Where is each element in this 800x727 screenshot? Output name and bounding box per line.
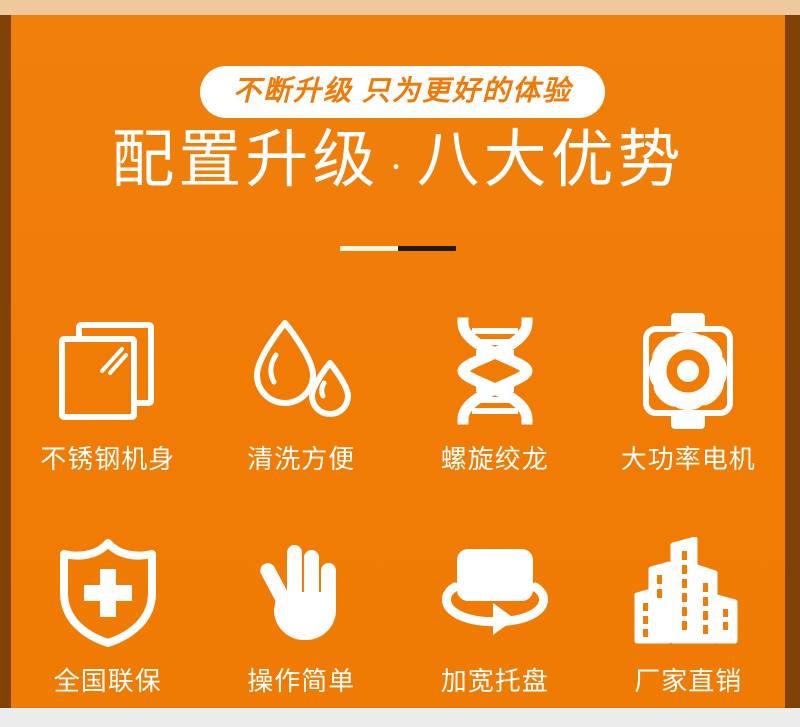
- title-divider: [11, 246, 785, 251]
- page-title: 配置升级·八大优势: [11, 124, 785, 196]
- feature-label: 螺旋绞龙: [441, 447, 549, 473]
- promo-banner-page: 不断升级 只为更好的体验 配置升级·八大优势 不锈钢机身: [0, 0, 800, 727]
- feature-label: 清洗方便: [247, 447, 355, 473]
- feature-item-simple-operation: 操作简单: [205, 520, 399, 708]
- wide-tray-rotate-icon: [420, 520, 570, 665]
- feature-item-national-warranty: 全国联保: [11, 520, 205, 708]
- factory-buildings-icon: [613, 520, 763, 665]
- left-brown-rail: [0, 15, 11, 708]
- feature-grid: 不锈钢机身 清洗方便: [11, 298, 785, 708]
- page-title-separator: ·: [379, 144, 416, 189]
- divider-dark-segment: [398, 246, 456, 251]
- shield-cross-icon: [33, 520, 183, 665]
- spiral-auger-helix-icon: [420, 298, 570, 443]
- feature-item-wide-tray: 加宽托盘: [398, 520, 592, 708]
- feature-item-factory-direct: 厂家直销: [592, 520, 786, 708]
- page-title-right: 八大优势: [417, 125, 685, 195]
- feature-item-high-power-motor: 大功率电机: [592, 298, 786, 520]
- feature-label: 不锈钢机身: [40, 447, 175, 473]
- bottom-gray-strip: [0, 708, 800, 727]
- feature-item-easy-clean: 清洗方便: [205, 298, 399, 520]
- orange-content-panel: 不断升级 只为更好的体验 配置升级·八大优势 不锈钢机身: [11, 15, 785, 708]
- motor-fan-icon: [613, 298, 763, 443]
- page-title-left: 配置升级: [111, 125, 379, 195]
- feature-label: 操作简单: [247, 669, 355, 695]
- feature-item-stainless-steel: 不锈钢机身: [11, 298, 205, 520]
- stainless-steel-panels-icon: [33, 298, 183, 443]
- top-peach-band: [0, 0, 800, 15]
- subtitle-pill-text: 不断升级 只为更好的体验: [233, 78, 572, 106]
- feature-label: 全国联保: [54, 669, 162, 695]
- feature-label: 大功率电机: [621, 447, 756, 473]
- feature-label: 厂家直销: [634, 669, 742, 695]
- hand-palm-icon: [226, 520, 376, 665]
- right-brown-rail: [785, 15, 800, 708]
- feature-label: 加宽托盘: [441, 669, 549, 695]
- water-droplets-icon: [226, 298, 376, 443]
- divider-light-segment: [340, 246, 398, 251]
- feature-item-spiral-auger: 螺旋绞龙: [398, 298, 592, 520]
- subtitle-pill: 不断升级 只为更好的体验: [200, 66, 605, 118]
